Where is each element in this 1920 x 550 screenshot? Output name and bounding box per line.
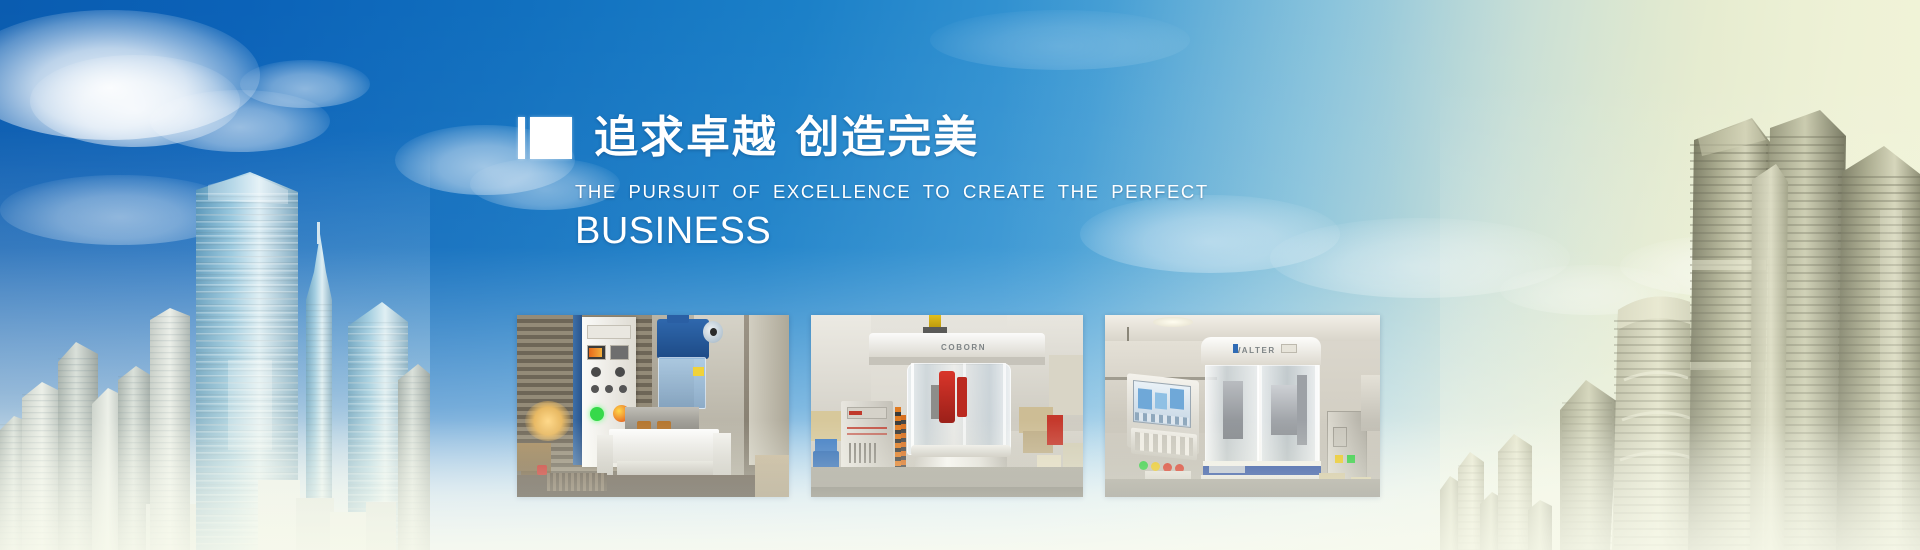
- square-bar-logo-mark-icon: [518, 117, 572, 159]
- walter-brand-label: WALTER: [1233, 346, 1276, 355]
- banner-copy: 追求卓越 创造完美 THE PURSUIT OF EXCELLENCE TO C…: [518, 112, 1418, 253]
- coborn-brand-label: COBORN: [941, 343, 986, 352]
- banner-subline-english: THE PURSUIT OF EXCELLENCE TO CREATE THE …: [575, 181, 1418, 203]
- walter-tool-grinder-photo[interactable]: WALTER: [1105, 315, 1380, 497]
- banner-headline-chinese: 追求卓越 创造完美: [594, 116, 979, 160]
- coborn-grinding-machine-photo[interactable]: COBORN: [811, 315, 1083, 497]
- logo-bar-icon: [518, 117, 525, 159]
- banner-business-word: BUSINESS: [575, 211, 1418, 253]
- cnc-milling-machine-photo[interactable]: [517, 315, 789, 497]
- logo-square-icon: [530, 117, 572, 159]
- headline-row: 追求卓越 创造完美: [518, 112, 1418, 164]
- hero-banner: 追求卓越 创造完美 THE PURSUIT OF EXCELLENCE TO C…: [0, 0, 1920, 550]
- machine-photo-strip: COBORN: [517, 315, 1380, 497]
